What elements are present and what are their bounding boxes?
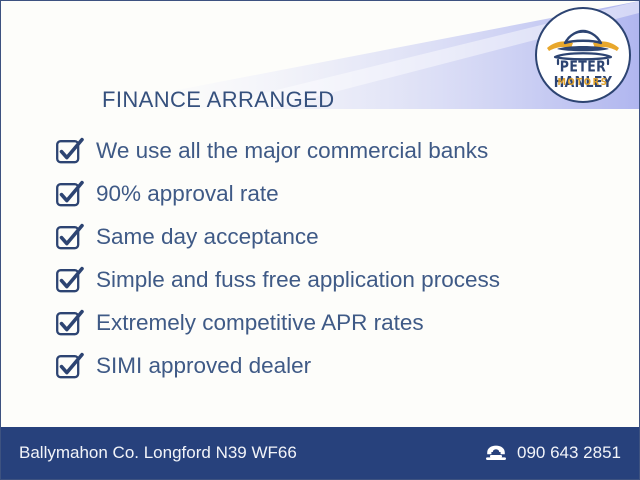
list-item: We use all the major commercial banks xyxy=(55,129,615,172)
checkbox-checked-icon xyxy=(55,136,85,166)
footer-phone-group[interactable]: 090 643 2851 xyxy=(484,443,621,463)
list-item-label: Extremely competitive APR rates xyxy=(96,310,424,336)
list-item-label: Same day acceptance xyxy=(96,224,319,250)
list-item: Same day acceptance xyxy=(55,215,615,258)
logo-name-sub: MOTORS xyxy=(535,79,631,88)
telephone-icon xyxy=(484,444,508,462)
list-item: SIMI approved dealer xyxy=(55,344,615,387)
list-item-label: SIMI approved dealer xyxy=(96,353,311,379)
benefits-checklist: We use all the major commercial banks 90… xyxy=(55,129,615,387)
finance-arranged-slide: PETER HANLEY MOTORS FINANCE ARRANGED We … xyxy=(0,0,640,480)
checkbox-checked-icon xyxy=(55,351,85,381)
footer-address: Ballymahon Co. Longford N39 WF66 xyxy=(19,443,297,463)
checkbox-checked-icon xyxy=(55,265,85,295)
page-title: FINANCE ARRANGED xyxy=(102,87,335,113)
checkbox-checked-icon xyxy=(55,308,85,338)
brand-logo[interactable]: PETER HANLEY MOTORS xyxy=(535,7,631,103)
list-item-label: We use all the major commercial banks xyxy=(96,138,488,164)
list-item-label: Simple and fuss free application process xyxy=(96,267,500,293)
checkbox-checked-icon xyxy=(55,179,85,209)
footer-phone-number: 090 643 2851 xyxy=(517,443,621,463)
list-item: Extremely competitive APR rates xyxy=(55,301,615,344)
list-item: Simple and fuss free application process xyxy=(55,258,615,301)
checkbox-checked-icon xyxy=(55,222,85,252)
list-item: 90% approval rate xyxy=(55,172,615,215)
footer-bar: Ballymahon Co. Longford N39 WF66 090 643… xyxy=(1,427,639,479)
list-item-label: 90% approval rate xyxy=(96,181,279,207)
